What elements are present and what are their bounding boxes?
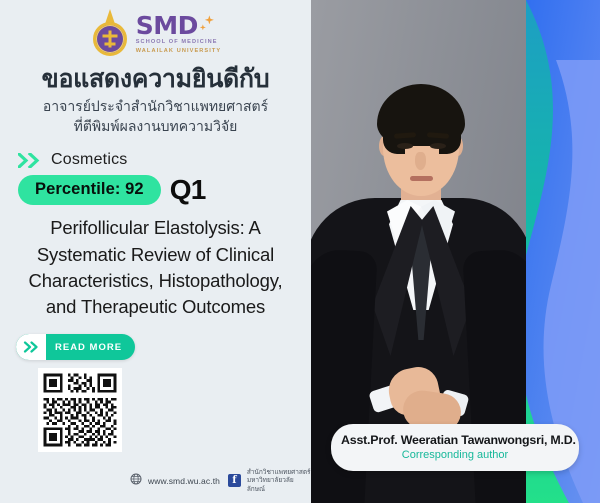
- thai-subheadline-line1: อาจารย์ประจำสำนักวิชาแพทยศาสตร์: [43, 97, 268, 117]
- metrics-row: Percentile: 92 Q1: [18, 175, 205, 205]
- double-chevron-right-icon: [18, 153, 44, 168]
- author-name: Asst.Prof. Weeratian Tawanwongsri, M.D.: [341, 433, 569, 447]
- author-name-card: Asst.Prof. Weeratian Tawanwongsri, M.D. …: [331, 424, 579, 471]
- category-label: Cosmetics: [51, 151, 127, 169]
- category-row: Cosmetics: [18, 151, 127, 169]
- read-more-label: READ MORE: [46, 342, 135, 353]
- right-media-panel: Asst.Prof. Weeratian Tawanwongsri, M.D. …: [311, 0, 600, 503]
- double-chevron-right-icon: [16, 334, 46, 360]
- eye-right: [430, 143, 446, 149]
- logo-wordmark-line: SMD: [136, 13, 222, 38]
- logo-subtitle-line2: WALAILAK UNIVERSITY: [136, 47, 222, 55]
- qr-code-image: [41, 371, 119, 449]
- hair: [377, 84, 465, 146]
- thai-subheadline: อาจารย์ประจำสำนักวิชาแพทยศาสตร์ ที่ตีพิม…: [43, 97, 268, 138]
- footer-links: www.smd.wu.ac.th f สำนักวิชาแพทยศาสตร์ ม…: [130, 468, 311, 494]
- facebook-page-line1: สำนักวิชาแพทยศาสตร์: [247, 468, 311, 476]
- article-title: Perifollicular Elastolysis: A Systematic…: [0, 215, 311, 320]
- author-role: Corresponding author: [341, 449, 569, 461]
- eye-left: [397, 143, 413, 149]
- congratulations-poster: SMD SCHOOL OF MEDICINE WALAILAK UNIVERSI…: [0, 0, 600, 503]
- read-more-button[interactable]: READ MORE: [16, 334, 135, 360]
- percentile-badge: Percentile: 92: [18, 175, 161, 205]
- logo-subtitle-line1: SCHOOL OF MEDICINE: [136, 38, 222, 46]
- walailak-crest-icon: [90, 9, 130, 59]
- sparkle-icon: [199, 13, 215, 35]
- mouth: [410, 176, 433, 181]
- facebook-page-line2: มหาวิทยาลัยวลัยลักษณ์: [247, 476, 294, 493]
- left-content-panel: SMD SCHOOL OF MEDICINE WALAILAK UNIVERSI…: [0, 0, 311, 503]
- globe-icon: [130, 472, 142, 490]
- facebook-icon[interactable]: f: [228, 474, 241, 487]
- nose: [415, 152, 426, 170]
- thai-subheadline-line2: ที่ตีพิมพ์ผลงานบทความวิจัย: [43, 117, 268, 137]
- website-url[interactable]: www.smd.wu.ac.th: [148, 476, 220, 486]
- quartile-label: Q1: [170, 176, 206, 204]
- logo-wordmark: SMD: [136, 13, 198, 38]
- thai-headline: ขอแสดงความยินดีกับ: [42, 65, 270, 94]
- crest-disc: [93, 22, 127, 56]
- logo-wordmark-block: SMD SCHOOL OF MEDICINE WALAILAK UNIVERSI…: [136, 13, 222, 54]
- qr-code[interactable]: [38, 368, 122, 452]
- smd-logo: SMD SCHOOL OF MEDICINE WALAILAK UNIVERSI…: [90, 8, 222, 60]
- facebook-page-name: สำนักวิชาแพทยศาสตร์ มหาวิทยาลัยวลัยลักษณ…: [247, 468, 311, 494]
